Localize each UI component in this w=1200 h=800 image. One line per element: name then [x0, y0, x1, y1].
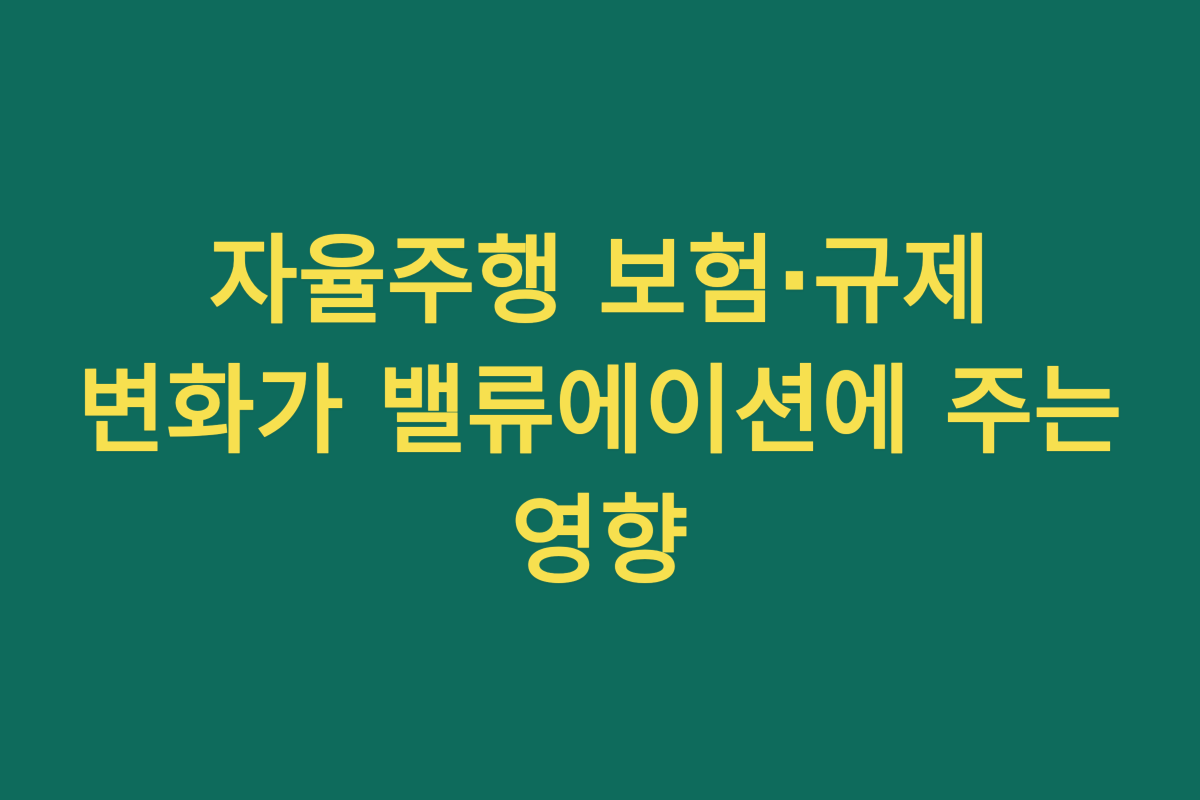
title-card-canvas: 자율주행 보험·규제 변화가 밸류에이션에 주는 영향	[0, 0, 1200, 800]
headline-text: 자율주행 보험·규제 변화가 밸류에이션에 주는 영향	[70, 216, 1130, 606]
